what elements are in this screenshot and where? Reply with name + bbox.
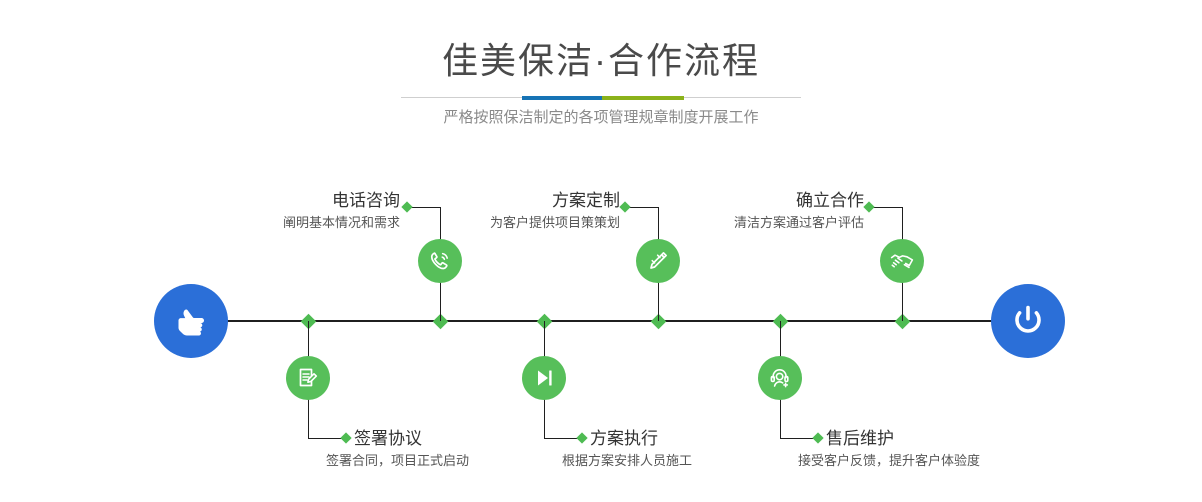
- phone-call-icon: [427, 248, 453, 274]
- step-3-title: 方案定制: [340, 190, 620, 212]
- step-6-title: 售后维护: [826, 428, 1166, 450]
- document-sign-icon: [295, 365, 321, 391]
- timeline-start-endpoint[interactable]: [154, 284, 228, 358]
- step-4-connector-horizontal: [544, 438, 580, 439]
- power-icon: [1007, 300, 1049, 342]
- play-to-end-icon: [531, 365, 557, 391]
- flowchart-page: 佳美保洁·合作流程 严格按照保洁制定的各项管理规章制度开展工作: [0, 0, 1202, 502]
- step-6-subtitle: 接受客户反馈，提升客户体验度: [798, 451, 1198, 471]
- step-2-icon-node[interactable]: [286, 356, 330, 400]
- headset-support-icon: [767, 365, 793, 391]
- pencil-edit-icon: [645, 248, 671, 274]
- step-1-icon-node[interactable]: [418, 239, 462, 283]
- step-5-label-marker: [863, 201, 874, 212]
- handshake-icon: [889, 248, 915, 274]
- step-2-connector-horizontal: [308, 438, 344, 439]
- timeline-end-endpoint[interactable]: [991, 284, 1065, 358]
- pointing-hand-icon: [171, 301, 211, 341]
- step-6-connector-horizontal: [780, 438, 816, 439]
- step-5-title: 确立合作: [584, 190, 864, 212]
- step-3-icon-node[interactable]: [636, 239, 680, 283]
- step-5-connector-horizontal: [870, 207, 902, 208]
- step-5-subtitle: 清洁方案通过客户评估: [564, 213, 864, 233]
- step-4-icon-node[interactable]: [522, 356, 566, 400]
- step-5-icon-node[interactable]: [880, 239, 924, 283]
- step-2-label-marker: [340, 432, 351, 443]
- process-timeline: 电话咨询 阐明基本情况和需求 签署协议 签署合同，项目正式启动: [0, 0, 1202, 502]
- step-6-icon-node[interactable]: [758, 356, 802, 400]
